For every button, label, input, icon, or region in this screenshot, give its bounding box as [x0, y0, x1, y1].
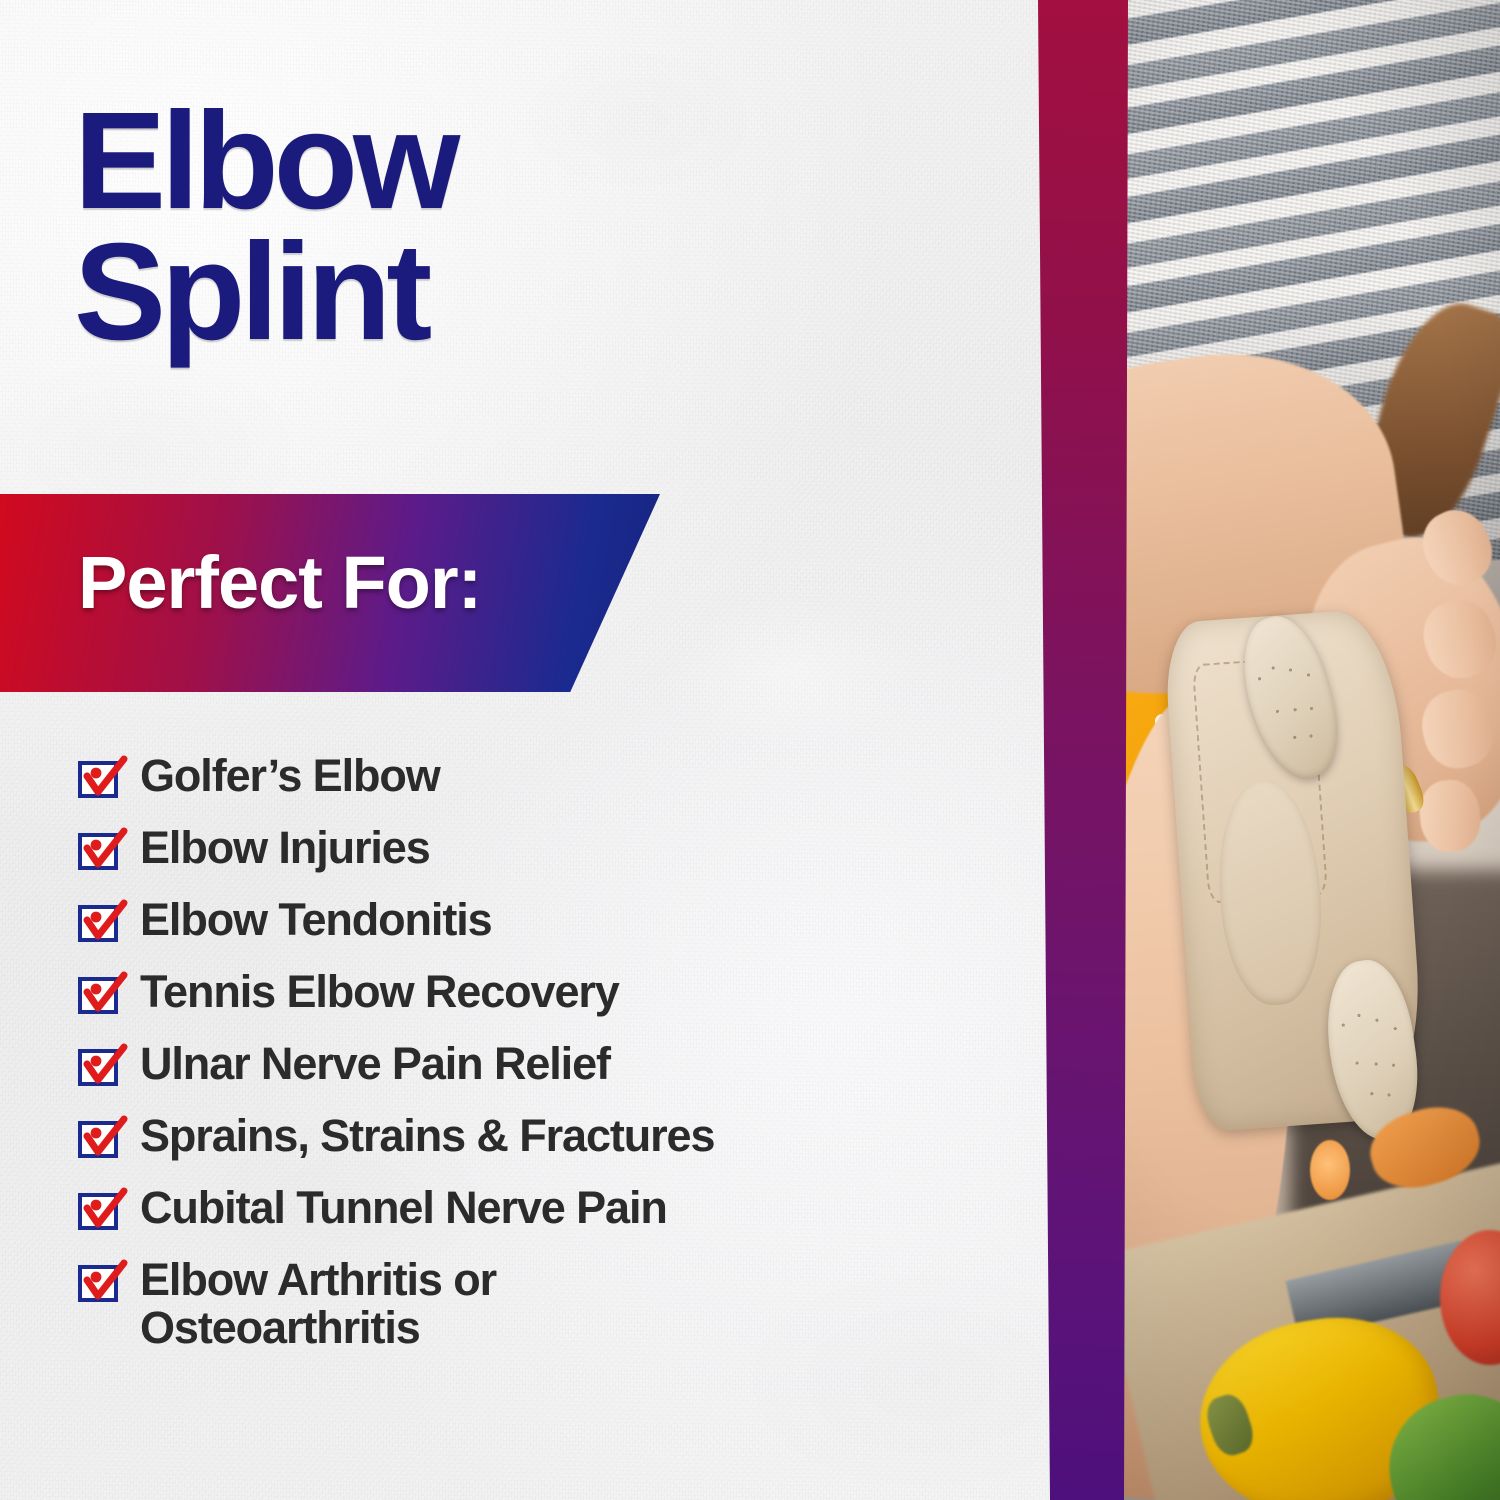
checkbox-checked-icon — [78, 833, 114, 866]
checkbox-checked-icon — [78, 1193, 114, 1226]
list-item: Elbow Tendonitis — [78, 896, 938, 968]
checkbox-checked-icon — [78, 977, 114, 1010]
list-item: Cubital Tunnel Nerve Pain — [78, 1184, 938, 1256]
list-item-label: Tennis Elbow Recovery — [140, 968, 619, 1016]
product-infographic: Elbow Splint Perfect For: Golfer’s Elbow — [0, 0, 1500, 1500]
list-item: Ulnar Nerve Pain Relief — [78, 1040, 938, 1112]
checkbox-checked-icon — [78, 1121, 114, 1154]
checkbox-checked-icon — [78, 1265, 114, 1298]
list-item-label: Ulnar Nerve Pain Relief — [140, 1040, 610, 1088]
checkbox-checked-icon — [78, 905, 114, 938]
list-item-label: Elbow Tendonitis — [140, 896, 492, 944]
list-item-label: Elbow Injuries — [140, 824, 430, 872]
checkbox-checked-icon — [78, 1049, 114, 1082]
list-item: Sprains, Strains & Fractures — [78, 1112, 938, 1184]
list-item: Elbow Arthritis or Osteoarthritis — [78, 1256, 938, 1352]
title-line-2: Splint — [74, 227, 714, 358]
carrot-slice — [1310, 1140, 1350, 1200]
list-item: Tennis Elbow Recovery — [78, 968, 938, 1040]
list-item: Golfer’s Elbow — [78, 752, 938, 824]
benefits-list: Golfer’s Elbow Elbow Injuries Elbow — [78, 752, 938, 1352]
list-item-label: Cubital Tunnel Nerve Pain — [140, 1184, 667, 1232]
list-item-label: Elbow Arthritis or Osteoarthritis — [140, 1256, 496, 1352]
list-item: Elbow Injuries — [78, 824, 938, 896]
checkbox-checked-icon — [78, 761, 114, 794]
photo-scene — [1000, 0, 1500, 1500]
list-item-label: Sprains, Strains & Fractures — [140, 1112, 714, 1160]
perfect-for-label: Perfect For: — [78, 540, 481, 625]
list-item-label: Golfer’s Elbow — [140, 752, 440, 800]
page-title: Elbow Splint — [74, 96, 714, 358]
product-lifestyle-photo — [1000, 0, 1500, 1500]
